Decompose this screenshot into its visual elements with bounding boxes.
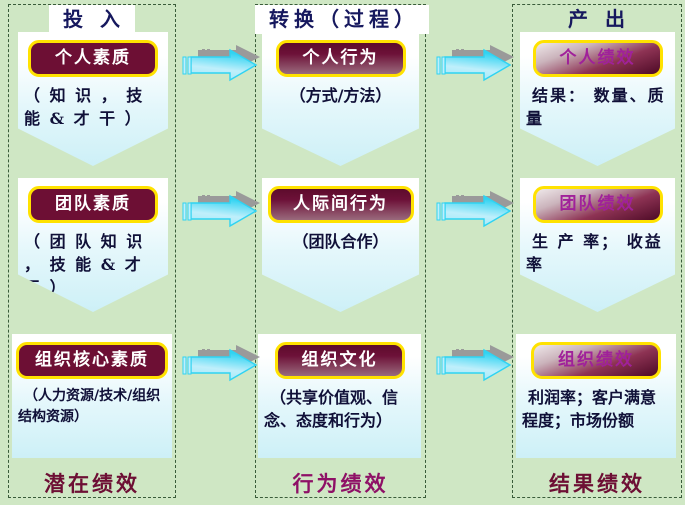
pill-individual-quality[interactable]: 个人素质 <box>28 40 158 77</box>
arrow-input-to-process-row1 <box>178 44 262 86</box>
pill-team-performance[interactable]: 团队绩效 <box>533 186 663 223</box>
pill-team-quality[interactable]: 团队素质 <box>28 186 158 223</box>
arrow-process-to-output-row1 <box>432 44 516 86</box>
column-header-input-label: 投 入 <box>49 5 135 34</box>
pill-interpersonal-behaviour[interactable]: 人际间行为 <box>268 186 414 223</box>
column-header-input: 投 入 <box>8 5 176 34</box>
column-header-output: 产 出 <box>512 5 682 34</box>
column-header-output-label: 产 出 <box>554 5 640 34</box>
body-input-organization: （人力资源/技术/组织结构资源） <box>18 386 166 428</box>
arrow-process-to-output-row3 <box>432 344 516 386</box>
body-process-team: （团队合作） <box>268 230 413 253</box>
footer-label-result-performance: 结果绩效 <box>512 471 682 497</box>
arrow-input-to-process-row3 <box>178 344 262 386</box>
pill-org-core-quality[interactable]: 组织核心素质 <box>16 342 168 379</box>
column-header-process: 转换（过程） <box>255 5 426 34</box>
card-process-organization[interactable]: 组织文化 （共享价值观、信念、态度和行为） <box>258 334 421 458</box>
body-output-organization: 利润率；客户满意程度；市场份额 <box>522 386 670 432</box>
column-header-process-label: 转换（过程） <box>255 5 429 34</box>
pill-individual-performance[interactable]: 个人绩效 <box>533 40 663 77</box>
pill-individual-behaviour[interactable]: 个人行为 <box>276 40 406 77</box>
body-output-team: 生 产 率； 收益率 <box>526 230 669 276</box>
body-process-organization: （共享价值观、信念、态度和行为） <box>264 386 415 432</box>
slide-canvas: { "theme": { "background": "#cfe7c4", "c… <box>0 0 685 505</box>
arrow-input-to-process-row2 <box>178 190 262 232</box>
arrow-process-to-output-row2 <box>432 190 516 232</box>
pill-organizational-culture[interactable]: 组织文化 <box>275 342 405 379</box>
body-process-individual: （方式/方法） <box>268 84 413 107</box>
card-input-organization[interactable]: 组织核心素质 （人力资源/技术/组织结构资源） <box>12 334 172 458</box>
footer-label-behavioural-performance: 行为绩效 <box>255 471 426 497</box>
pill-organizational-performance[interactable]: 组织绩效 <box>531 342 661 379</box>
footer-label-potential-performance: 潜在绩效 <box>8 471 176 497</box>
card-output-organization[interactable]: 组织绩效 利润率；客户满意程度；市场份额 <box>516 334 676 458</box>
body-input-individual: （ 知 识 ， 技 能 & 才 干 ） <box>24 84 162 130</box>
body-output-individual: 结果： 数量、质量 <box>526 84 669 130</box>
